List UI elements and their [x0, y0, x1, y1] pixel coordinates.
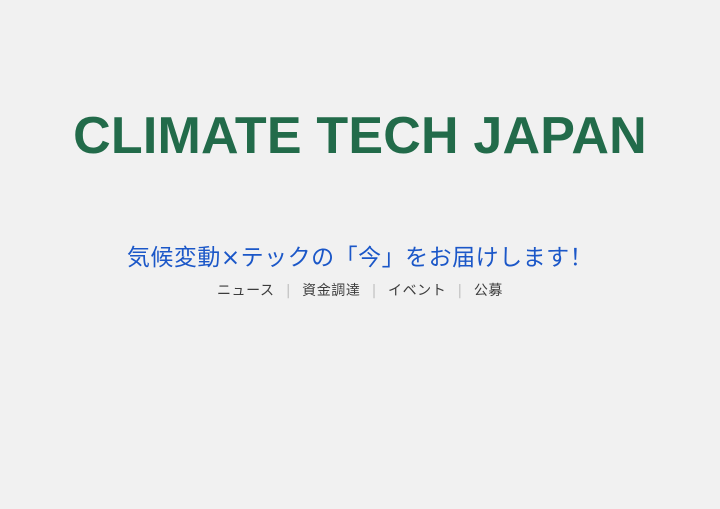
tagline-block: 気候変動×テックの「今」をお届けします！ [0, 243, 720, 273]
tagline-text: 気候変動×テックの「今」をお届けします！ [0, 243, 720, 273]
topic-item-open-call: 公募 [474, 281, 503, 301]
poster-canvas: CLIMATE TECH JAPAN 気候変動×テックの「今」をお届けします！ … [0, 0, 720, 509]
page-title: CLIMATE TECH JAPAN [0, 108, 720, 164]
topic-separator: | [451, 281, 468, 301]
topic-separator: | [280, 281, 297, 301]
topic-item-news: ニュース [217, 281, 275, 301]
topic-item-funding: 資金調達 [302, 281, 360, 301]
topics-block: ニュース | 資金調達 | イベント | 公募 [0, 281, 720, 301]
topics-list: ニュース | 資金調達 | イベント | 公募 [217, 281, 503, 301]
topic-item-events: イベント [388, 281, 446, 301]
title-block: CLIMATE TECH JAPAN [0, 108, 720, 164]
topic-separator: | [366, 281, 383, 301]
